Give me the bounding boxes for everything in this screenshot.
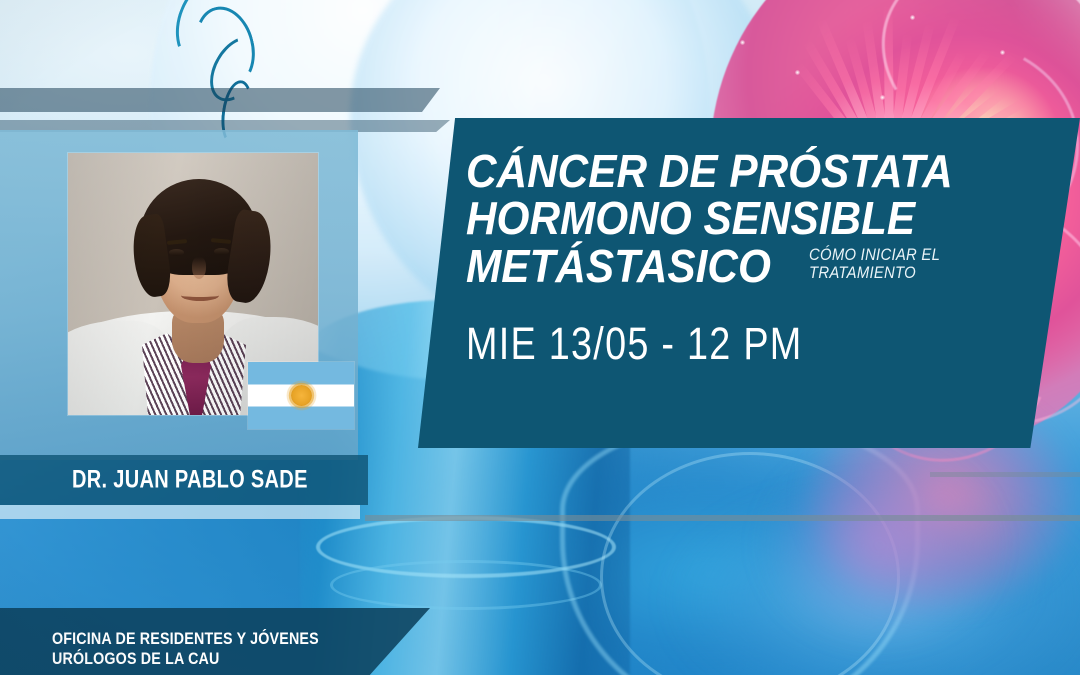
page-subtitle: CÓMO INICIAR EL TRATAMIENTO [809, 246, 955, 291]
decorative-rule-right [930, 472, 1080, 477]
organization-panel: OFICINA DE RESIDENTES Y JÓVENES URÓLOGOS… [0, 608, 430, 675]
page-title-line-2: HORMONO SENSIBLE [466, 195, 1040, 242]
page-title-line-3-row: METÁSTASICO CÓMO INICIAR EL TRATAMIENTO [466, 243, 1040, 290]
anatomy-sparkle [795, 70, 800, 75]
title-panel: CÁNCER DE PRÓSTATA HORMONO SENSIBLE METÁ… [418, 118, 1080, 448]
decorative-rule-middle [365, 515, 1080, 521]
event-datetime: MIE 13/05 - 12 PM [466, 318, 1040, 370]
anatomy-sparkle [740, 40, 745, 45]
anatomy-sparkle [880, 95, 885, 100]
decorative-bar-top [0, 88, 440, 112]
anatomy-sparkle [910, 15, 915, 20]
page-title-line-1: CÁNCER DE PRÓSTATA [466, 148, 1040, 195]
title-block: CÁNCER DE PRÓSTATA HORMONO SENSIBLE METÁ… [466, 148, 1040, 370]
speaker-name: DR. JUAN PABLO SADE [72, 466, 367, 495]
page-title-line-3: METÁSTASICO [466, 243, 797, 290]
speaker-name-bar: DR. JUAN PABLO SADE [0, 455, 368, 505]
argentina-flag-icon [248, 362, 354, 429]
organization-name: OFICINA DE RESIDENTES Y JÓVENES URÓLOGOS… [52, 629, 370, 669]
sol-de-mayo-icon [291, 385, 312, 406]
event-poster: DR. JUAN PABLO SADE CÁNCER DE PRÓSTATA H… [0, 0, 1080, 675]
anatomy-lower-haze-secondary [740, 430, 1020, 660]
anatomy-sparkle [1000, 50, 1005, 55]
speaker-name-underbar [0, 505, 360, 519]
